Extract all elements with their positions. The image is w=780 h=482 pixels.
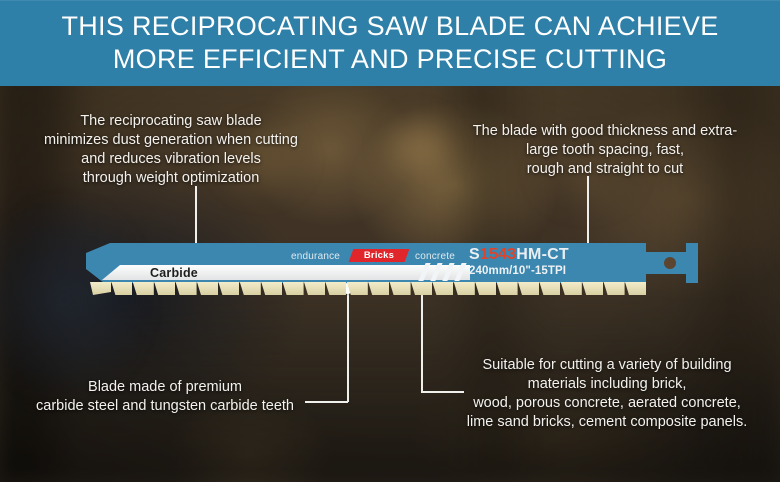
blade-tag-concrete: concrete [415, 251, 455, 262]
blade-tooth [111, 282, 132, 295]
blade-tooth [625, 282, 646, 295]
blade-tooth [411, 282, 432, 295]
blade-tooth [304, 282, 325, 295]
blade-tooth [432, 282, 453, 295]
blade-spec-text: 240mm/10"-15TPI [469, 265, 566, 277]
callout-top-right: The blade with good thickness and extra-… [440, 122, 770, 179]
blade-tooth [133, 282, 154, 295]
blade-tooth [176, 282, 197, 295]
blade-tooth [518, 282, 539, 295]
blade-slash-marks [422, 263, 476, 281]
blade-tag-endurance: endurance [291, 251, 340, 262]
blade-band-label: Carbide [150, 266, 198, 280]
blade-tooth [561, 282, 582, 295]
blade-tooth [283, 282, 304, 295]
model-suffix: HM-CT [516, 246, 569, 263]
blade-tooth [582, 282, 603, 295]
blade-bricks-label: Bricks [351, 249, 407, 262]
blade-tooth [218, 282, 239, 295]
blade-tooth [261, 282, 282, 295]
blade-tooth [197, 282, 218, 295]
blade-tooth [475, 282, 496, 295]
blade-tooth [325, 282, 346, 295]
blade-tooth [90, 282, 111, 295]
leader-line-bottom-right-horz [421, 391, 464, 393]
blade-teeth [90, 282, 646, 302]
blade-tooth [154, 282, 175, 295]
leader-line-bottom-left-horz [305, 401, 348, 403]
callout-top-left: The reciprocating saw blade minimizes du… [10, 112, 332, 188]
blade-bricks-badge: Bricks [349, 249, 410, 262]
model-prefix: S [469, 246, 480, 263]
blade-tooth [604, 282, 625, 295]
blade-tooth [347, 282, 368, 295]
blade-tag-row: endurance Bricks concrete [86, 248, 698, 262]
blade-tooth [454, 282, 475, 295]
callout-bottom-left: Blade made of premium carbide steel and … [0, 378, 330, 416]
blade-model-number: S1543HM-CT [469, 246, 569, 264]
saw-blade-graphic: Carbide endurance Bricks concrete S1543H… [86, 243, 698, 305]
blade-tooth [539, 282, 560, 295]
infographic-page: THIS RECIPROCATING SAW BLADE CAN ACHIEVE… [0, 0, 780, 482]
blade-tooth [368, 282, 389, 295]
blade-tooth [240, 282, 261, 295]
page-title: THIS RECIPROCATING SAW BLADE CAN ACHIEVE… [61, 10, 718, 76]
blade-tooth [497, 282, 518, 295]
callout-bottom-right: Suitable for cutting a variety of buildi… [440, 356, 774, 432]
header-banner: THIS RECIPROCATING SAW BLADE CAN ACHIEVE… [0, 0, 780, 86]
model-digits: 1543 [480, 246, 516, 263]
blade-tooth [390, 282, 411, 295]
